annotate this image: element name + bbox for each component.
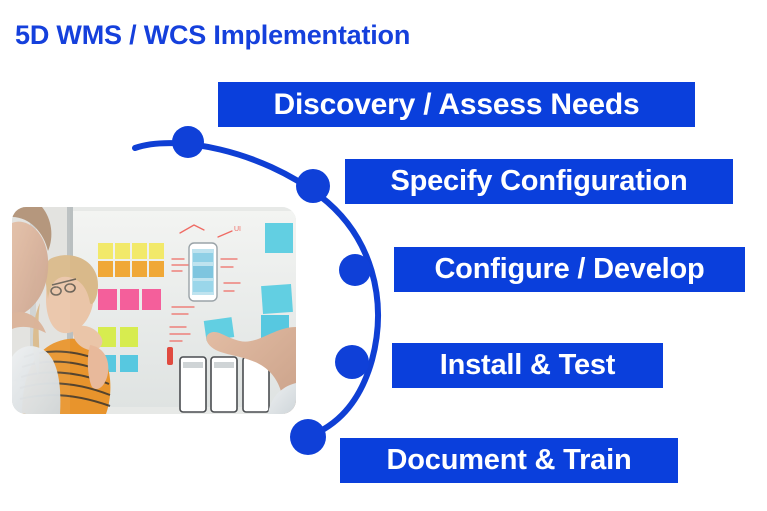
step-box-document-train[interactable]: Document & Train	[340, 438, 678, 483]
flow-node-1	[172, 126, 204, 158]
step-label: Specify Configuration	[376, 167, 701, 196]
infographic-canvas: 5D WMS / WCS Implementation	[0, 0, 767, 511]
team-whiteboard-planning-photo: UI	[12, 207, 296, 414]
step-label: Document & Train	[373, 446, 646, 475]
page-title: 5D WMS / WCS Implementation	[15, 20, 410, 51]
flow-node-4	[335, 345, 369, 379]
step-label: Configure / Develop	[420, 255, 718, 284]
step-box-discovery-assess-needs[interactable]: Discovery / Assess Needs	[218, 82, 695, 127]
step-box-install-test[interactable]: Install & Test	[392, 343, 663, 388]
step-box-configure-develop[interactable]: Configure / Develop	[394, 247, 745, 292]
flow-node-2	[296, 169, 330, 203]
step-label: Discovery / Assess Needs	[260, 90, 654, 120]
photo-artwork: UI	[12, 207, 296, 414]
step-box-specify-configuration[interactable]: Specify Configuration	[345, 159, 733, 204]
svg-text:UI: UI	[234, 226, 241, 233]
step-label: Install & Test	[426, 351, 630, 380]
flow-node-5	[290, 419, 326, 455]
flow-node-3	[339, 254, 371, 286]
